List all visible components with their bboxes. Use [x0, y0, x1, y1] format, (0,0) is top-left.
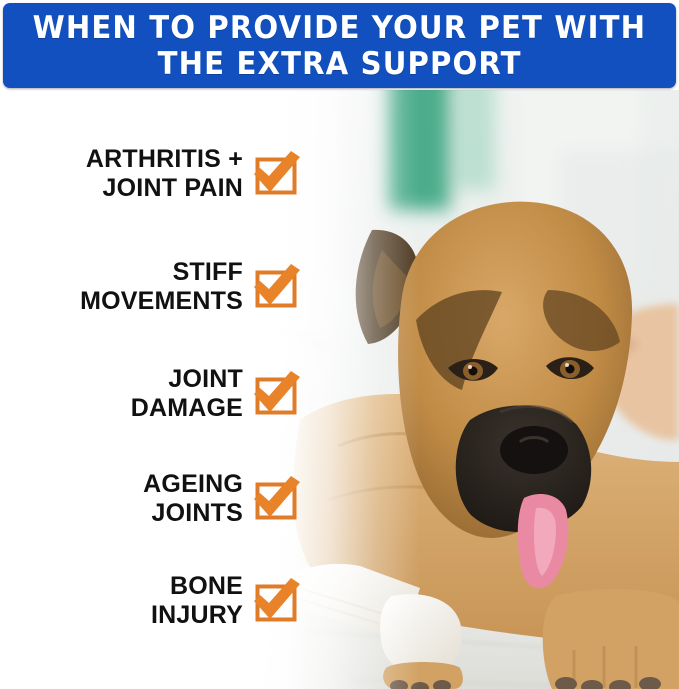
checklist-item-label: STIFFMOVEMENTS [80, 258, 243, 316]
checkbox-checked-icon [254, 151, 300, 197]
checklist-item-line2: DAMAGE [131, 394, 243, 422]
checklist-item-line1: ARTHRITIS + [86, 145, 243, 173]
checklist-item-line1: STIFF [173, 258, 243, 286]
checklist-item-ageing-joints: AGEINGJOINTS [0, 470, 300, 528]
checklist-item-joint-damage: JOINTDAMAGE [0, 365, 300, 423]
header-banner: WHEN TO PROVIDE YOUR PET WITH THE EXTRA … [3, 3, 676, 88]
checklist-item-label: JOINTDAMAGE [131, 365, 243, 423]
checklist-item-line2: JOINT PAIN [103, 174, 243, 202]
checklist-item-line1: BONE [170, 572, 243, 600]
checklist-item-bone-injury: BONEINJURY [0, 572, 300, 630]
checkbox-checked-icon [254, 578, 300, 624]
checklist-item-arthritis-joint-pain: ARTHRITIS +JOINT PAIN [0, 145, 300, 203]
checkbox-checked-icon [254, 264, 300, 310]
checklist-item-label: AGEINGJOINTS [143, 470, 243, 528]
symptom-checklist: ARTHRITIS +JOINT PAIN STIFFMOVEMENTS JOI… [0, 90, 310, 689]
checklist-item-label: ARTHRITIS +JOINT PAIN [86, 145, 243, 203]
dog-front-paw [543, 589, 679, 689]
header-line-1: WHEN TO PROVIDE YOUR PET WITH [33, 10, 647, 46]
checklist-item-line1: AGEING [143, 470, 243, 498]
checkbox-checked-icon [254, 371, 300, 417]
checklist-item-line2: MOVEMENTS [80, 287, 243, 315]
checklist-item-line1: JOINT [168, 365, 243, 393]
checklist-item-line2: INJURY [151, 601, 243, 629]
checkbox-checked-icon [254, 476, 300, 522]
checklist-item-line2: JOINTS [152, 499, 244, 527]
header-line-2: THE EXTRA SUPPORT [157, 46, 521, 82]
checklist-item-label: BONEINJURY [151, 572, 243, 630]
checklist-item-stiff-movements: STIFFMOVEMENTS [0, 258, 300, 316]
